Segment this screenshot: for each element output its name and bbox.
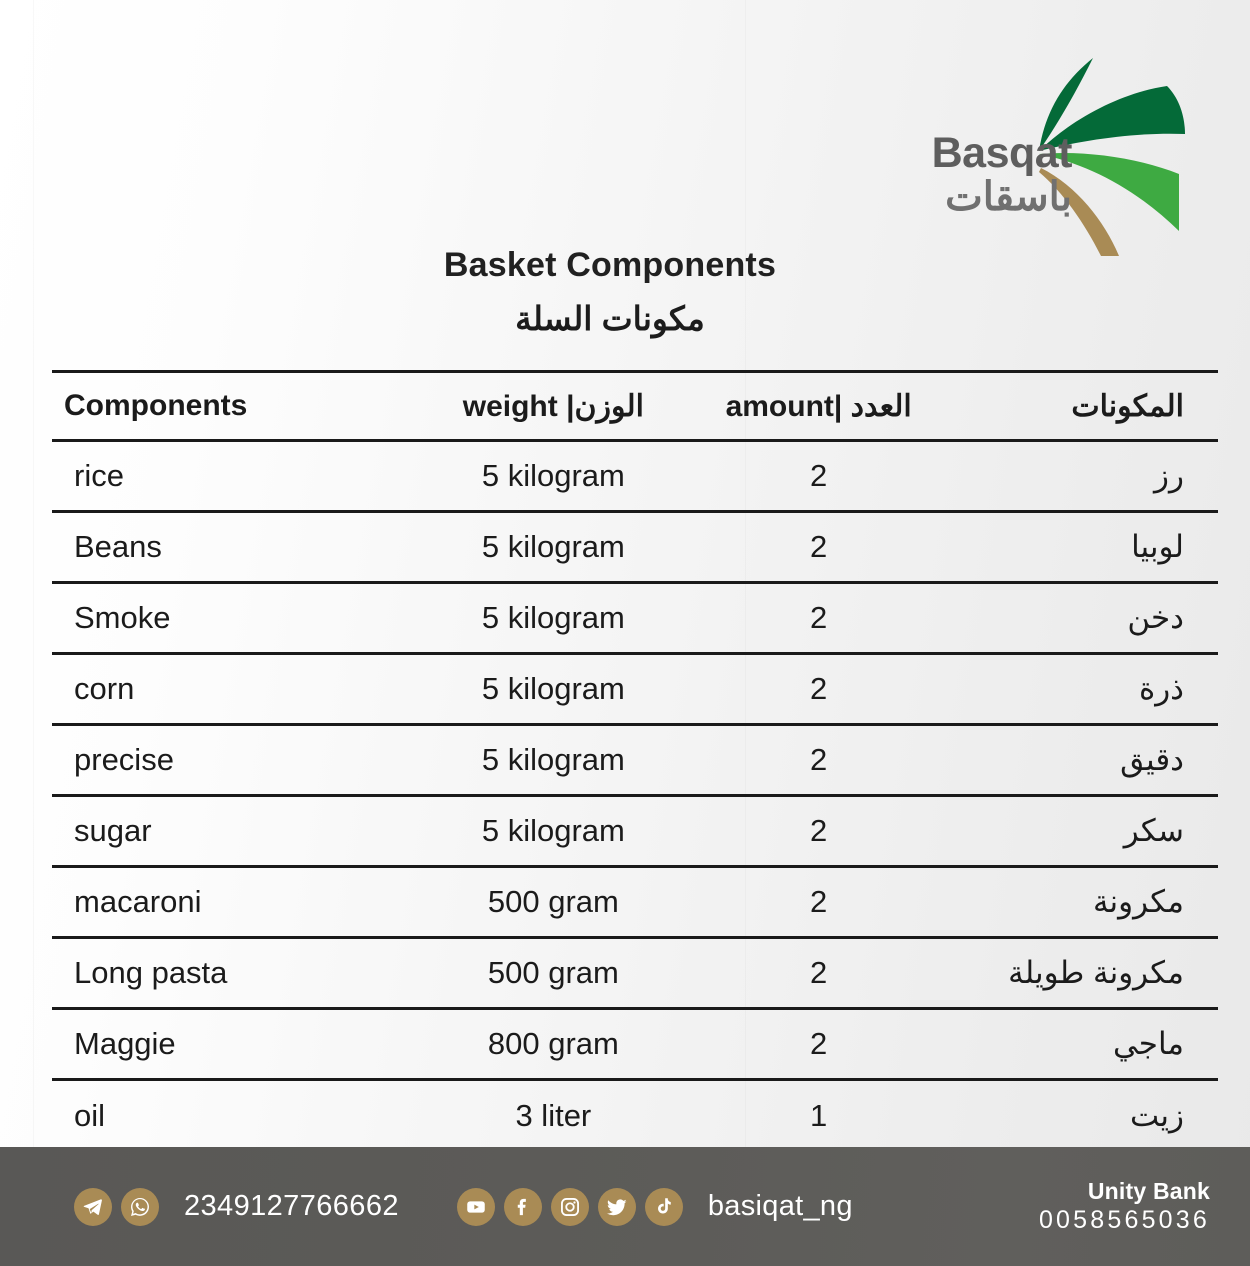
row-name-arabic: دخن	[944, 583, 1218, 654]
table-row: sugar5 kilogram2سكر	[52, 796, 1218, 867]
row-name-english: Maggie	[52, 1009, 413, 1080]
table-header: Components weight |الوزن amount| العدد ا…	[52, 372, 1218, 441]
footer-bank-name: Unity Bank	[1039, 1177, 1210, 1206]
table-row: Beans5 kilogram2لوبيا	[52, 512, 1218, 583]
brand-logo: Basqat باسقات	[912, 46, 1212, 256]
telegram-icon[interactable]	[74, 1188, 112, 1226]
table-row: macaroni500 gram2مكرونة	[52, 867, 1218, 938]
row-weight: 500 gram	[413, 867, 693, 938]
components-table: Components weight |الوزن amount| العدد ا…	[52, 370, 1218, 1151]
row-weight: 800 gram	[413, 1009, 693, 1080]
footer-bar: 2349127766662	[0, 1147, 1250, 1266]
brand-arabic-name: باسقات	[912, 177, 1072, 217]
row-name-arabic: مكرونة طويلة	[944, 938, 1218, 1009]
row-amount: 2	[693, 725, 944, 796]
row-amount: 2	[693, 512, 944, 583]
row-name-arabic: مكرونة	[944, 867, 1218, 938]
row-name-english: Beans	[52, 512, 413, 583]
row-name-arabic: زيت	[944, 1080, 1218, 1151]
row-name-arabic: ذرة	[944, 654, 1218, 725]
youtube-icon[interactable]	[457, 1188, 495, 1226]
table-row: Long pasta500 gram2مكرونة طويلة	[52, 938, 1218, 1009]
page-title-block: Basket Components مكونات السلة	[0, 246, 1250, 338]
footer-social-handle[interactable]: basiqat_ng	[708, 1190, 853, 1223]
footer-social-group: basiqat_ng	[399, 1188, 1039, 1226]
footer-bank-group: Unity Bank 0058565036	[1039, 1177, 1250, 1237]
brand-latin-name: Basqat	[912, 132, 1072, 175]
row-name-arabic: سكر	[944, 796, 1218, 867]
row-weight: 5 kilogram	[413, 512, 693, 583]
column-header-components-en: Components	[52, 372, 413, 441]
row-amount: 2	[693, 441, 944, 512]
row-amount: 2	[693, 938, 944, 1009]
row-amount: 1	[693, 1080, 944, 1151]
column-header-weight: weight |الوزن	[413, 372, 693, 441]
poster-canvas: Basqat باسقات Basket Components مكونات ا…	[0, 0, 1250, 1266]
row-amount: 2	[693, 583, 944, 654]
row-weight: 5 kilogram	[413, 725, 693, 796]
footer-bank-account: 0058565036	[1039, 1205, 1210, 1236]
page-title-english: Basket Components	[0, 246, 1220, 285]
row-name-arabic: لوبيا	[944, 512, 1218, 583]
table-row: oil3 liter1زيت	[52, 1080, 1218, 1151]
column-header-components-ar: المكونات	[944, 372, 1218, 441]
table-row: rice5 kilogram2رز	[52, 441, 1218, 512]
tiktok-icon[interactable]	[645, 1188, 683, 1226]
table-row: Maggie800 gram2ماجي	[52, 1009, 1218, 1080]
row-name-arabic: ماجي	[944, 1009, 1218, 1080]
table-body: rice5 kilogram2رزBeans5 kilogram2لوبياSm…	[52, 441, 1218, 1151]
row-name-english: oil	[52, 1080, 413, 1151]
footer-contact-group: 2349127766662	[0, 1188, 399, 1226]
row-weight: 500 gram	[413, 938, 693, 1009]
row-amount: 2	[693, 796, 944, 867]
row-name-english: sugar	[52, 796, 413, 867]
twitter-icon[interactable]	[598, 1188, 636, 1226]
page-title-arabic: مكونات السلة	[0, 299, 1220, 338]
row-name-english: Long pasta	[52, 938, 413, 1009]
row-name-english: corn	[52, 654, 413, 725]
background-seam	[33, 0, 34, 1266]
row-name-english: macaroni	[52, 867, 413, 938]
social-icon-list	[457, 1188, 692, 1226]
row-name-arabic: رز	[944, 441, 1218, 512]
row-weight: 5 kilogram	[413, 654, 693, 725]
table-row: precise5 kilogram2دقيق	[52, 725, 1218, 796]
column-header-amount: amount| العدد	[693, 372, 944, 441]
instagram-icon[interactable]	[551, 1188, 589, 1226]
footer-phone-number[interactable]: 2349127766662	[184, 1190, 399, 1223]
facebook-icon[interactable]	[504, 1188, 542, 1226]
components-table-wrapper: Components weight |الوزن amount| العدد ا…	[52, 370, 1218, 1151]
whatsapp-icon[interactable]	[121, 1188, 159, 1226]
row-weight: 3 liter	[413, 1080, 693, 1151]
brand-wordmark: Basqat باسقات	[912, 132, 1072, 217]
table-row: corn5 kilogram2ذرة	[52, 654, 1218, 725]
row-amount: 2	[693, 654, 944, 725]
row-name-english: precise	[52, 725, 413, 796]
row-weight: 5 kilogram	[413, 583, 693, 654]
row-amount: 2	[693, 1009, 944, 1080]
row-amount: 2	[693, 867, 944, 938]
table-row: Smoke5 kilogram2دخن	[52, 583, 1218, 654]
row-weight: 5 kilogram	[413, 441, 693, 512]
row-name-arabic: دقيق	[944, 725, 1218, 796]
row-weight: 5 kilogram	[413, 796, 693, 867]
table-header-row: Components weight |الوزن amount| العدد ا…	[52, 372, 1218, 441]
row-name-english: rice	[52, 441, 413, 512]
row-name-english: Smoke	[52, 583, 413, 654]
